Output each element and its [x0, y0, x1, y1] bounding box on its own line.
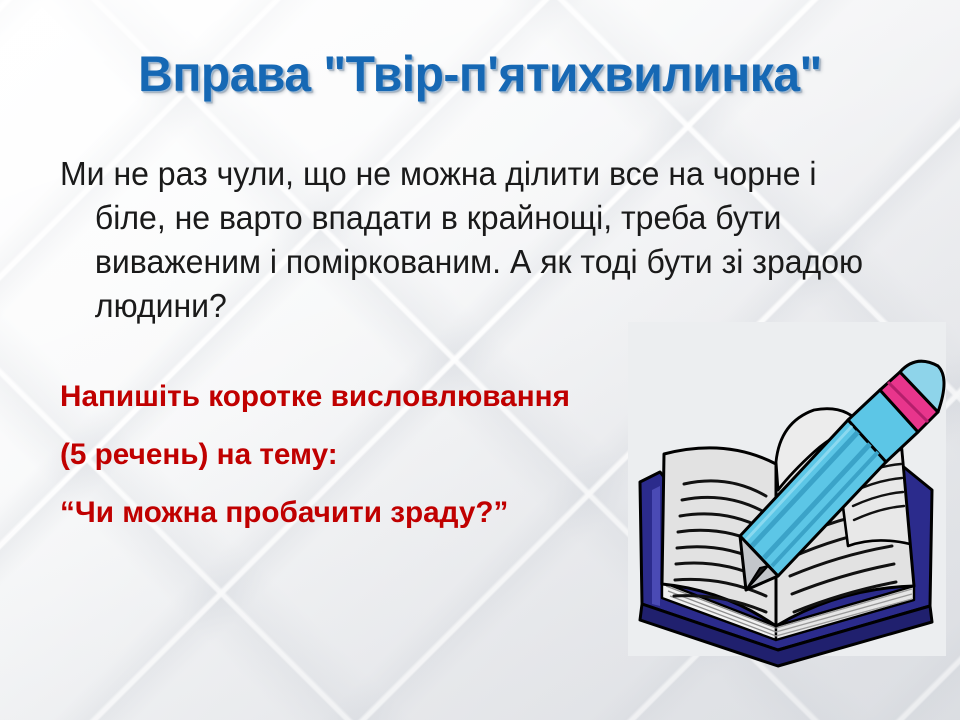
instruction-line-1: Напишіть коротке висловлювання — [60, 368, 694, 426]
slide-title: Вправа "Твір-п'ятихвилинка" — [19, 48, 941, 101]
illustration-panel — [628, 322, 946, 656]
body-paragraph: Ми не раз чули, що не можна ділити все н… — [60, 152, 871, 328]
instruction-line-2: (5 речень) на тему: — [60, 426, 694, 484]
open-book-with-pencil-icon — [600, 314, 960, 672]
instruction-line-3: “Чи можна пробачити зраду?” — [60, 484, 694, 542]
slide-canvas: Вправа "Твір-п'ятихвилинка" Ми не раз чу… — [0, 0, 960, 720]
